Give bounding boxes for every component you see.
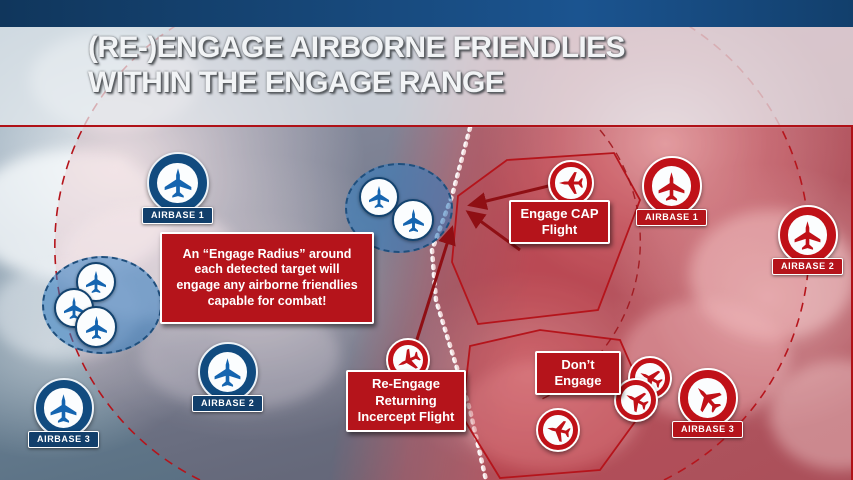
friendly-jet-marker[interactable] [75, 306, 117, 348]
callout-line: Don’t [555, 357, 602, 373]
callout-engage-radius: An “Engage Radius” around each detected … [160, 232, 374, 324]
jet-icon [84, 315, 109, 340]
hostile-flight-inner [555, 167, 586, 198]
airbase-label: AIRBASE 2 [192, 395, 263, 412]
callout-re-engage-text: Re-Engage Returning Incercept Flight [358, 376, 455, 425]
jet-icon [401, 208, 426, 233]
hostile-flight-south[interactable] [536, 408, 580, 452]
jet-icon [619, 383, 653, 417]
airbase-marker-friendly-1[interactable]: AIRBASE 1 [142, 152, 213, 224]
airbase-disc [642, 156, 702, 216]
airbase-marker-friendly-2[interactable]: AIRBASE 2 [192, 342, 263, 412]
callout-line: Engage CAP [520, 206, 598, 222]
airbase-marker-hostile-1[interactable]: AIRBASE 1 [636, 156, 707, 226]
airbase-disc-inner [44, 388, 83, 427]
callout-line: engage any airborne friendlies [176, 278, 357, 294]
title-bar-strip [0, 0, 853, 27]
jet-icon [656, 171, 687, 202]
callout-line: capable for combat! [176, 294, 357, 310]
jet-icon [686, 376, 730, 420]
callout-engage-cap: Engage CAP Flight [509, 200, 610, 244]
airbase-label: AIRBASE 1 [142, 207, 213, 224]
page-title-line-2: WITHIN THE ENGAGE RANGE [88, 65, 788, 100]
callout-line: Engage [555, 373, 602, 389]
jet-icon [162, 167, 194, 199]
airbase-disc [778, 205, 838, 265]
callout-line: each detected target will [176, 262, 357, 278]
callout-dont-engage: Don’t Engage [535, 351, 621, 395]
airbase-label: AIRBASE 3 [672, 421, 743, 438]
jet-icon [558, 170, 584, 196]
jet-icon [48, 393, 79, 424]
airbase-disc-inner [652, 166, 691, 205]
airbase-disc [34, 378, 94, 438]
airbase-disc-inner [157, 163, 198, 204]
friendly-jet-marker[interactable] [392, 199, 434, 241]
airbase-disc-inner [688, 378, 727, 417]
page-title: (RE-)ENGAGE AIRBORNE FRIENDLIES WITHIN T… [88, 30, 788, 101]
callout-re-engage: Re-Engage Returning Incercept Flight [346, 370, 466, 432]
friendly-flight-cluster-left[interactable] [42, 256, 162, 354]
airbase-disc [147, 152, 209, 214]
callout-engage-cap-text: Engage CAP Flight [520, 206, 598, 239]
airbase-disc-inner [788, 215, 827, 254]
airbase-disc [198, 342, 258, 402]
callout-engage-radius-text: An “Engage Radius” around each detected … [176, 247, 357, 310]
slide-canvas: (RE-)ENGAGE AIRBORNE FRIENDLIES WITHIN T… [0, 0, 853, 480]
jet-icon [543, 415, 573, 445]
callout-line: An “Engage Radius” around [176, 247, 357, 263]
jet-icon [792, 220, 823, 251]
callout-line: Flight [520, 222, 598, 238]
jet-icon [212, 357, 243, 388]
jet-icon [84, 270, 108, 294]
airbase-label: AIRBASE 3 [28, 431, 99, 448]
airbase-disc-inner [208, 352, 247, 391]
callout-line: Incercept Flight [358, 409, 455, 425]
page-title-line-1: (RE-)ENGAGE AIRBORNE FRIENDLIES [88, 31, 625, 64]
hostile-flight-inner [621, 385, 651, 415]
jet-icon [367, 185, 391, 209]
callout-dont-engage-text: Don’t Engage [555, 357, 602, 390]
callout-line: Returning [358, 393, 455, 409]
hostile-flight-inner [543, 415, 573, 445]
airbase-marker-friendly-3[interactable]: AIRBASE 3 [28, 378, 99, 448]
airbase-marker-hostile-2[interactable]: AIRBASE 2 [772, 205, 843, 275]
airbase-disc [678, 368, 738, 428]
airbase-marker-hostile-3[interactable]: AIRBASE 3 [672, 368, 743, 438]
airbase-label: AIRBASE 2 [772, 258, 843, 275]
airbase-label: AIRBASE 1 [636, 209, 707, 226]
callout-line: Re-Engage [358, 376, 455, 392]
